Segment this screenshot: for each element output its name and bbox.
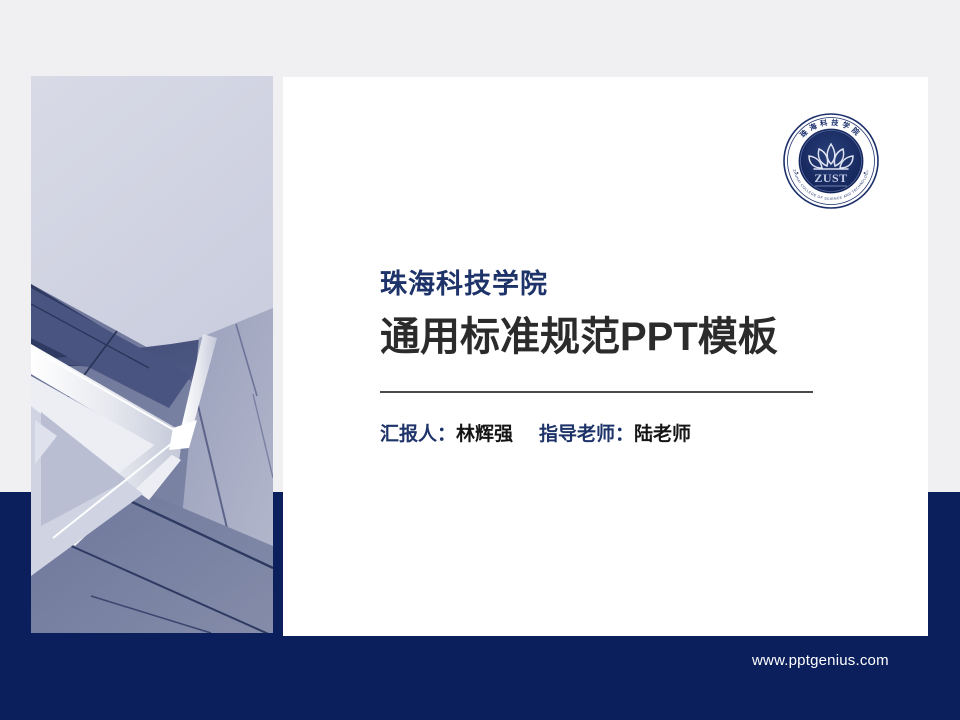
college-logo: 珠海科技学院 ZHUHAI COLLEGE OF SCIENCE AND TEC… — [781, 111, 881, 211]
svg-text:ZUST: ZUST — [814, 171, 847, 185]
title-block: 珠海科技学院 通用标准规范PPT模板 — [380, 268, 860, 362]
advisor-name: 陆老师 — [634, 424, 691, 445]
title-divider — [380, 391, 813, 393]
presenter-name: 林辉强 — [456, 424, 513, 445]
page-title: 通用标准规范PPT模板 — [380, 312, 860, 362]
architecture-photo — [31, 76, 273, 633]
advisor-label: 指导老师： — [539, 424, 634, 445]
footer-url[interactable]: www.pptgenius.com — [752, 652, 889, 669]
organization-name: 珠海科技学院 — [380, 268, 860, 300]
presentation-slide: 珠海科技学院 ZHUHAI COLLEGE OF SCIENCE AND TEC… — [0, 0, 960, 720]
presenter-label: 汇报人： — [380, 424, 456, 445]
byline: 汇报人：林辉强指导老师：陆老师 — [380, 423, 691, 448]
